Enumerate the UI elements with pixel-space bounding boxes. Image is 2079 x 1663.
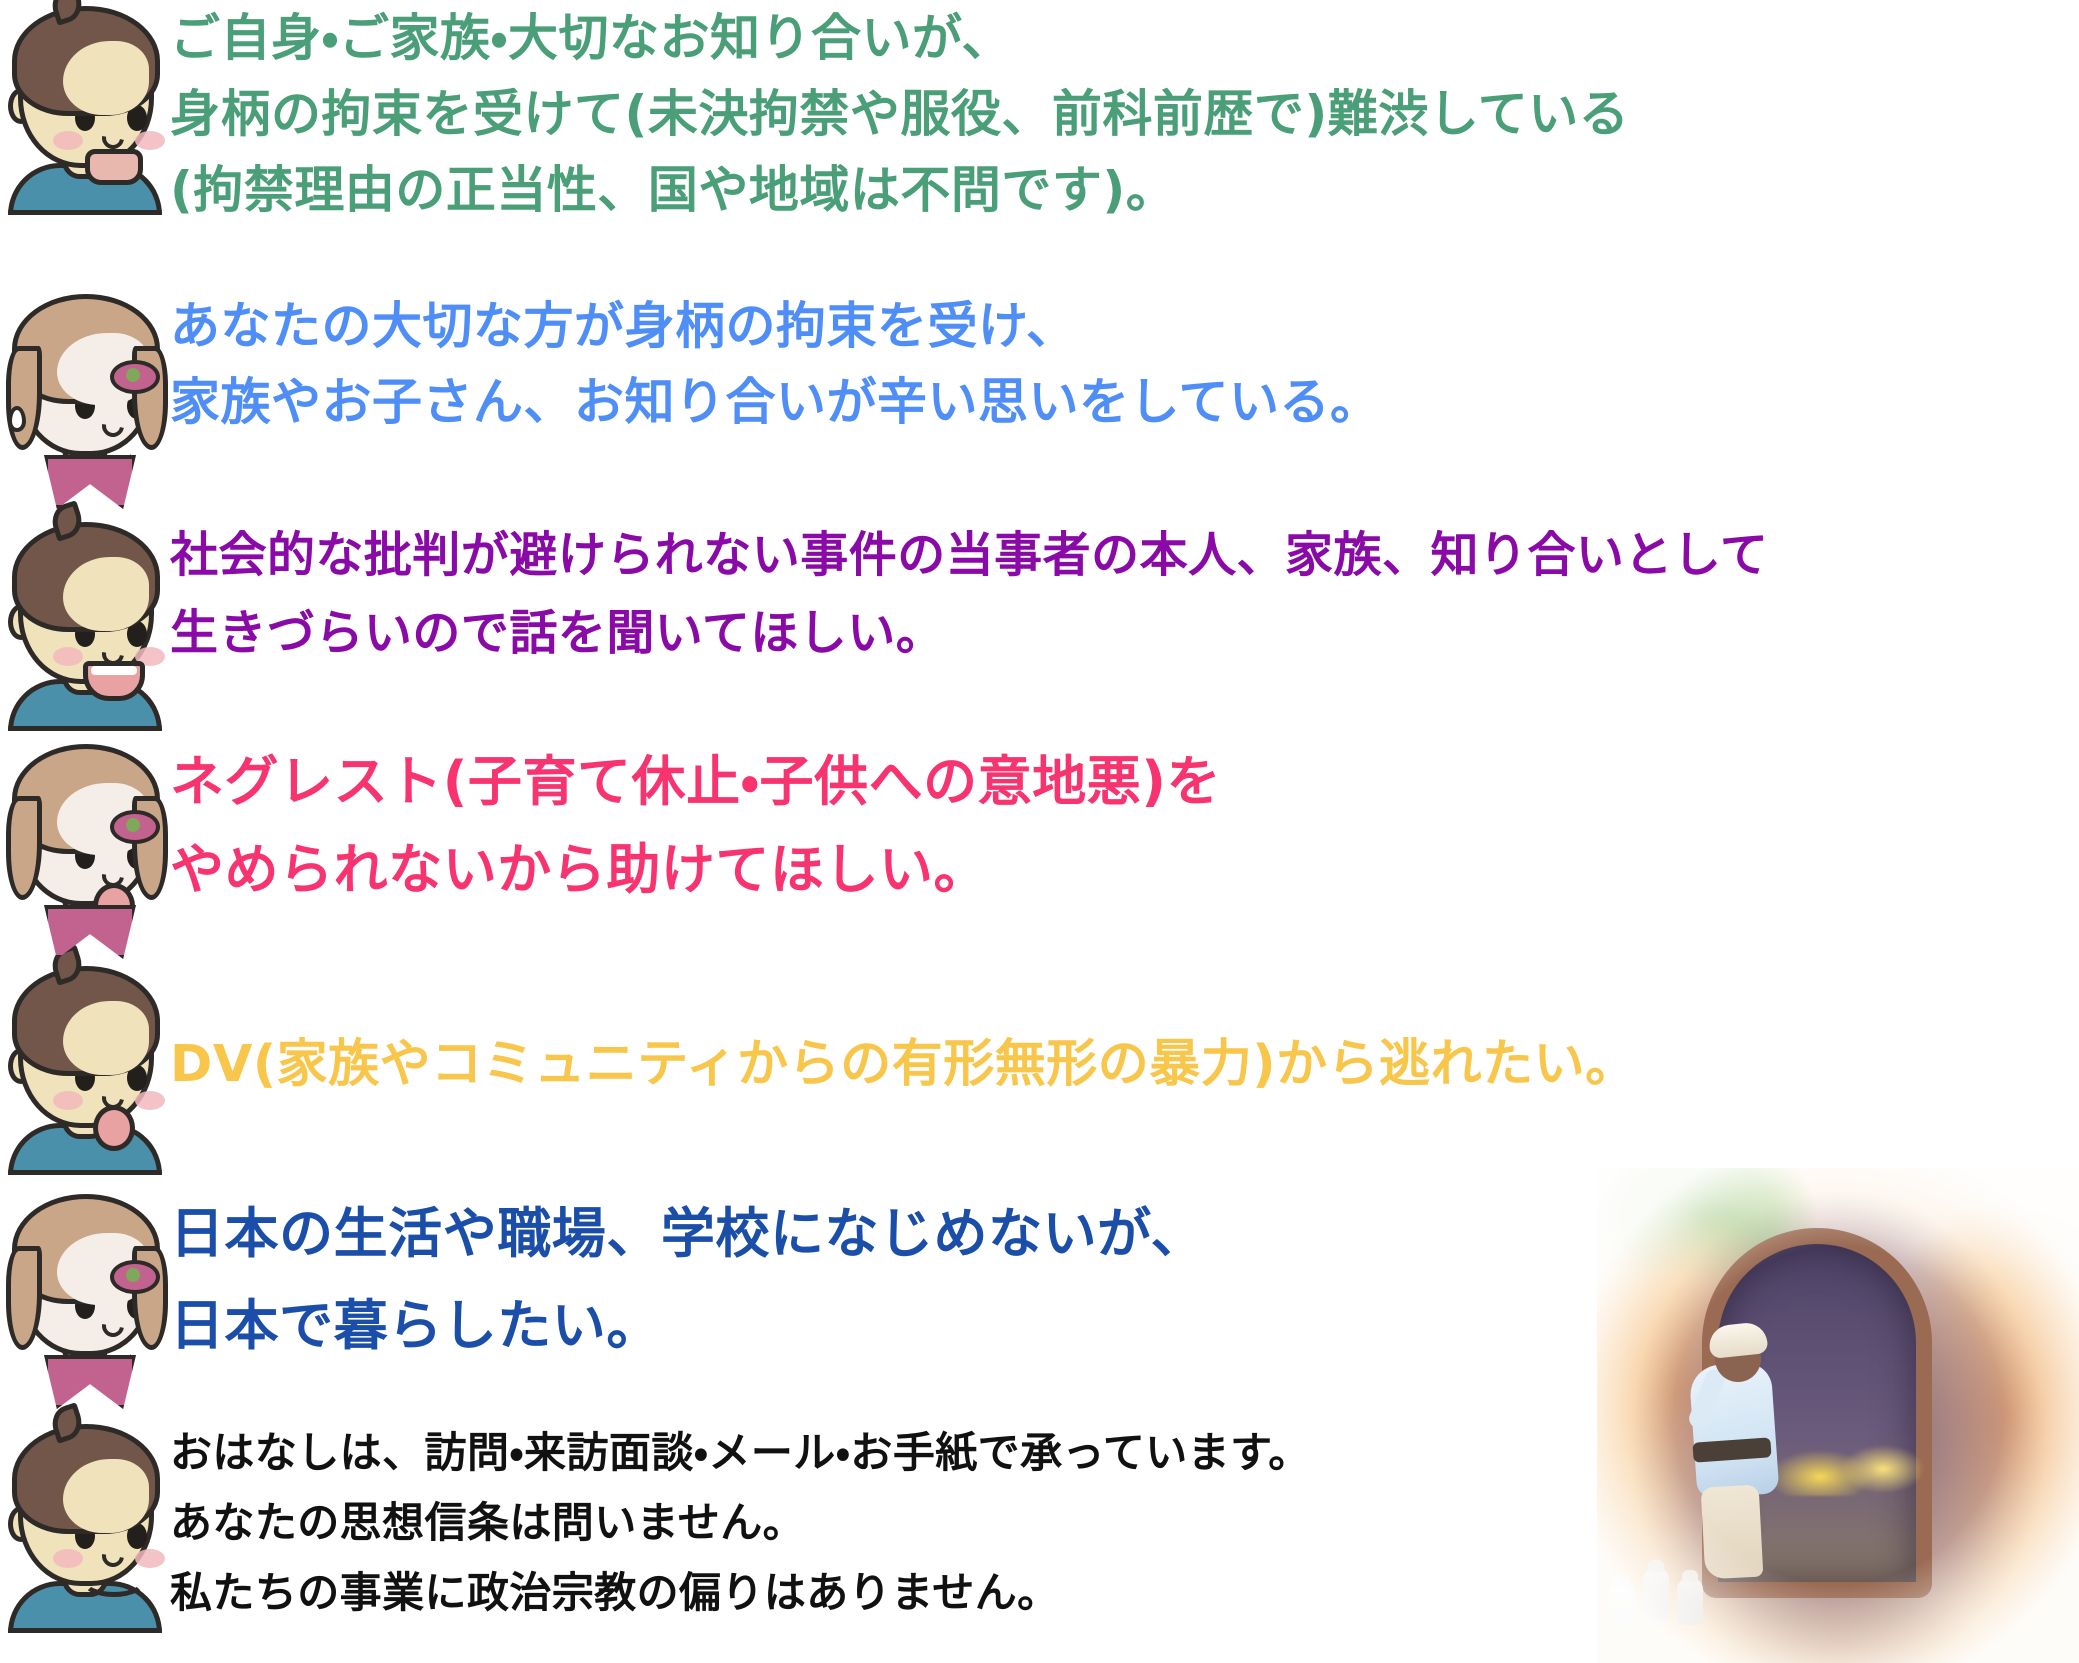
message-line: 身柄の拘束を受けて(未決拘禁や服役、前科前歴で)難渋している [170,76,1629,152]
message-line: 生きづらいので話を聞いてほしい。 [170,594,1768,672]
avatar-mouth-surprised [93,1105,135,1151]
avatar-mouth-frown [85,149,143,185]
message-line: (拘禁理由の正当性、国や地域は不問です)。 [170,152,1629,228]
avatar-hair-ribbon [110,360,160,394]
avatar-sweat-drop [8,406,26,432]
avatar-collar [44,1355,136,1409]
message-line: 社会的な批判が避けられない事件の当事者の本人、家族、知り合いとして [170,516,1768,594]
message-block-life-in-japan: 日本の生活や職場、学校になじめないが、 日本で暮らしたい。 [0,1188,1205,1403]
avatar-blush-right [135,131,165,150]
message-text-domestic-violence: DV(家族やコミュニティからの有形無形の暴力)から逃れたい。 [170,960,1637,1100]
message-line: 日本の生活や職場、学校になじめないが、 [170,1188,1205,1280]
treasure-cave-painting [1597,1168,2079,1663]
message-text-family-suffering: あなたの大切な方が身柄の拘束を受け、 家族やお子さん、お知り合いが辛い思いをして… [170,288,1381,440]
smiling-boy-avatar [0,1418,170,1633]
message-text-contact-policy: おはなしは、訪問・来訪面談・メール・お手紙で承っています。 あなたの思想信条は問… [170,1418,1311,1628]
message-line: ネグレスト(子育て休止・子供への意地悪)を [170,738,1221,826]
message-line: DV(家族やコミュニティからの有形無形の暴力)から逃れたい。 [170,1030,1637,1100]
avatar-collar [44,905,136,959]
neutral-girl-avatar [0,1188,170,1403]
avatar-hair [12,1424,160,1534]
avatar-collar [44,455,136,509]
avatar-blush-right [135,1091,165,1110]
message-block-detention-hardship: ご自身・ご家族・大切なお知り合いが、 身柄の拘束を受けて(未決拘禁や服役、前科前… [0,0,1629,228]
message-line: あなたの思想信条は問いません。 [170,1488,1311,1558]
avatar-nose [98,411,129,442]
message-line: 家族やお子さん、お知り合いが辛い思いをしている。 [170,364,1381,440]
poster-page: ご自身・ご家族・大切なお知り合いが、 身柄の拘束を受けて(未決拘禁や服役、前科前… [0,0,2079,1663]
avatar-hair [12,6,160,116]
avatar-blush-left [53,131,83,150]
painting-vignette [1597,1168,2079,1663]
sad-boy-avatar [0,0,170,215]
talking-boy-avatar [0,516,170,731]
message-line: あなたの大切な方が身柄の拘束を受け、 [170,288,1381,364]
worried-girl-avatar [0,288,170,503]
message-text-detention-hardship: ご自身・ご家族・大切なお知り合いが、 身柄の拘束を受けて(未決拘禁や服役、前科前… [170,0,1629,228]
message-block-social-criticism: 社会的な批判が避けられない事件の当事者の本人、家族、知り合いとして 生きづらいの… [0,516,1768,731]
avatar-hair [12,522,160,632]
message-block-contact-policy: おはなしは、訪問・来訪面談・メール・お手紙で承っています。 あなたの思想信条は問… [0,1418,1311,1633]
message-block-domestic-violence: DV(家族やコミュニティからの有形無形の暴力)から逃れたい。 [0,960,1637,1175]
avatar-mouth-smile [81,1563,147,1597]
message-text-social-criticism: 社会的な批判が避けられない事件の当事者の本人、家族、知り合いとして 生きづらいの… [170,516,1768,672]
avatar-blush-left [53,1091,83,1110]
message-block-neglect: ネグレスト(子育て休止・子供への意地悪)を やめられないから助けてほしい。 [0,738,1221,953]
message-block-family-suffering: あなたの大切な方が身柄の拘束を受け、 家族やお子さん、お知り合いが辛い思いをして… [0,288,1381,503]
message-line: やめられないから助けてほしい。 [170,826,1221,914]
avatar-nose [98,1311,129,1342]
avatar-hair [12,966,160,1076]
avatar-hair-ribbon [110,1260,160,1294]
message-line: おはなしは、訪問・来訪面談・メール・お手紙で承っています。 [170,1418,1311,1488]
avatar-blush-left [53,1549,83,1568]
surprised-boy-avatar [0,960,170,1175]
message-line: 日本で暮らしたい。 [170,1280,1205,1372]
message-text-neglect: ネグレスト(子育て休止・子供への意地悪)を やめられないから助けてほしい。 [170,738,1221,914]
avatar-hair-ribbon [110,810,160,844]
shocked-girl-avatar [0,738,170,953]
message-line: 私たちの事業に政治宗教の偏りはありません。 [170,1558,1311,1628]
message-line: ご自身・ご家族・大切なお知り合いが、 [170,0,1629,76]
avatar-blush-left [53,647,83,666]
message-text-life-in-japan: 日本の生活や職場、学校になじめないが、 日本で暮らしたい。 [170,1188,1205,1372]
